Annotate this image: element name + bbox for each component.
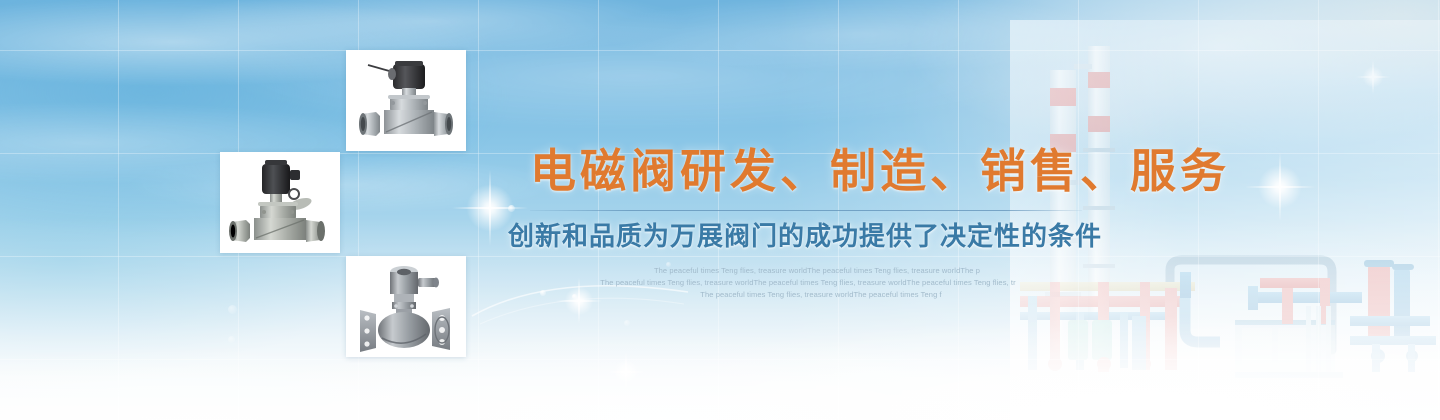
hero-banner: 电磁阀研发、制造、销售、服务 创新和品质为万展阀门的成功提供了决定性的条件 Th… [0, 0, 1440, 420]
blurb-line: The peaceful times Teng flies, treasure … [508, 265, 1108, 277]
product-thumbnail[interactable] [346, 50, 466, 151]
page-subtitle: 创新和品质为万展阀门的成功提供了决定性的条件 [508, 222, 1108, 251]
blurb-line: The peaceful times Teng flies, treasure … [508, 277, 1108, 289]
bokeh-dot [228, 305, 237, 314]
copy-block: 电磁阀研发、制造、销售、服务 创新和品质为万展阀门的成功提供了决定性的条件 Th… [508, 148, 1108, 302]
stainless-steel-solenoid-valve-threaded-image [346, 50, 466, 151]
bokeh-dot [228, 336, 235, 343]
page-title: 电磁阀研发、制造、销售、服务 [508, 148, 1108, 194]
title-divider [530, 210, 1082, 211]
product-thumbnail[interactable] [346, 256, 466, 357]
product-thumbnail[interactable] [220, 152, 340, 253]
flanged-solenoid-valve-image [346, 256, 466, 357]
blurb-paragraph: The peaceful times Teng flies, treasure … [508, 265, 1108, 302]
brass-solenoid-valve-threaded-image [220, 152, 340, 253]
blurb-line: The peaceful times Teng flies, treasure … [508, 289, 1108, 301]
bokeh-dot [624, 320, 630, 326]
